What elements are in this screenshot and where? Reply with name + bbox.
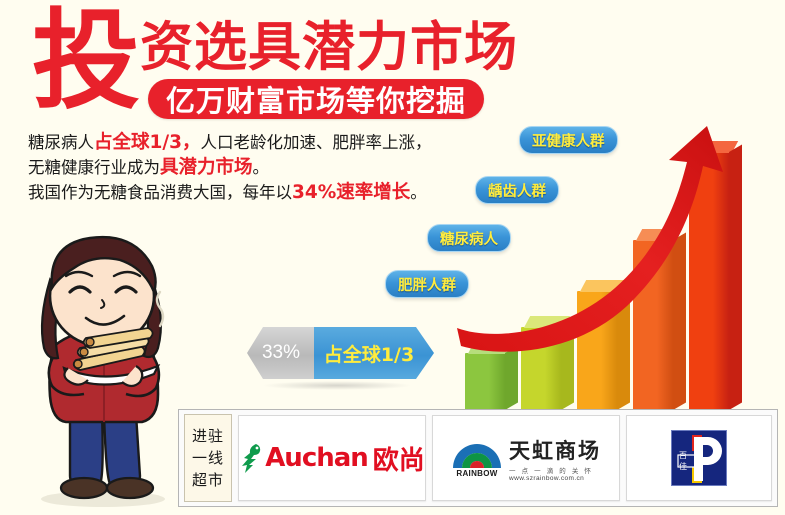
- body-copy-line-2: 无糖健康行业成为具潜力市场。: [28, 155, 498, 180]
- rainbow-logo-en: RAINBOW: [456, 469, 497, 478]
- chevron-percent-text: 33%: [262, 342, 300, 364]
- side-label-line-3: 超市: [192, 469, 224, 491]
- pill-label-3-text: 龋齿人群: [488, 180, 546, 201]
- side-label-line-1: 进驻: [192, 425, 224, 447]
- bar-3-side: [617, 283, 630, 410]
- growth-bar-chart: 肥胖人群糖尿病人龋齿人群亚健康人群: [455, 120, 785, 410]
- pill-label-1-text: 肥胖人群: [398, 274, 456, 295]
- logo-card-parknshop: 百佳: [626, 415, 772, 501]
- parknshop-logo-cn: 百佳: [679, 456, 694, 466]
- cartoon-character-illustration: [8, 218, 198, 508]
- pill-label-4-text: 亚健康人群: [532, 130, 605, 151]
- pill-label-2-text: 糖尿病人: [440, 228, 498, 249]
- rainbow-arc-icon: RAINBOW: [451, 438, 503, 478]
- bar-2-side: [561, 319, 574, 410]
- headline-banner-text: 亿万财富市场等你挖掘: [166, 78, 466, 120]
- copy-2-highlight: 具潜力市场: [160, 157, 253, 178]
- rainbow-logo-cn: 天虹商场: [509, 435, 601, 465]
- bar-3-face: [577, 291, 617, 410]
- infographic-root: 投 资选具潜力市场 亿万财富市场等你挖掘 糖尿病人占全球1/3，人口老龄化加速、…: [0, 0, 785, 515]
- logo-card-rainbow: RAINBOW 天虹商场 一 点 一 滴 的 关 怀 www.szrainbow…: [432, 415, 620, 501]
- global-share-chevron: 33% 占全球1/3: [247, 327, 434, 379]
- body-copy-line-3: 我国作为无糖食品消费大国，每年以34%速率增长。: [28, 180, 498, 205]
- auchan-logo-cn: 欧尚: [373, 440, 425, 477]
- headline-banner: 亿万财富市场等你挖掘: [148, 79, 484, 119]
- parknshop-logo: 百佳: [671, 430, 727, 486]
- pill-label-3: 龋齿人群: [475, 176, 559, 204]
- copy-1-b: 人口老龄化加速、肥胖率上涨，: [201, 133, 432, 152]
- bar-4-side: [673, 232, 686, 410]
- copy-2-a: 无糖健康行业成为: [28, 158, 160, 177]
- body-copy-line-1: 糖尿病人占全球1/3，人口老龄化加速、肥胖率上涨，: [28, 130, 498, 155]
- bar-1-face: [465, 353, 505, 410]
- rainbow-tagline: 一 点 一 滴 的 关 怀: [509, 465, 601, 475]
- panel-side-label: 进驻 一线 超市: [184, 414, 232, 502]
- copy-3-b: 。: [410, 183, 427, 202]
- chevron-percent-block: 33%: [247, 327, 315, 379]
- copy-2-b: 。: [253, 158, 270, 177]
- auchan-logo: Auchan 欧尚: [239, 440, 425, 477]
- headline-title: 资选具潜力市场: [140, 20, 518, 76]
- bar-5-face: [689, 152, 729, 410]
- bar-4-face: [633, 240, 673, 410]
- retail-partners-panel: 进驻 一线 超市 Auchan 欧尚: [178, 409, 778, 507]
- chevron-shadow: [262, 381, 412, 390]
- copy-1-a: 糖尿病人: [28, 133, 94, 152]
- chevron-label-text: 占全球1/3: [324, 340, 414, 367]
- headline-big-character: 投: [32, 10, 136, 114]
- logo-card-group: Auchan 欧尚 RAINBOW 天虹商场: [238, 415, 772, 501]
- bar-1-side: [505, 345, 518, 410]
- bar-5: [689, 152, 729, 410]
- rainbow-text-block: 天虹商场 一 点 一 滴 的 关 怀 www.szrainbow.com.cn: [509, 435, 601, 482]
- bar-2-face: [521, 327, 561, 410]
- auchan-logo-en: Auchan: [265, 443, 368, 473]
- bar-5-side: [729, 144, 742, 410]
- bar-1: [465, 353, 505, 410]
- bar-4: [633, 240, 673, 410]
- copy-3-a: 我国作为无糖食品消费大国，每年以: [28, 183, 292, 202]
- pill-label-2: 糖尿病人: [427, 224, 511, 252]
- copy-3-highlight: 34%速率增长: [292, 182, 410, 203]
- bar-3: [577, 291, 617, 410]
- body-copy: 糖尿病人占全球1/3，人口老龄化加速、肥胖率上涨， 无糖健康行业成为具潜力市场。…: [28, 130, 498, 205]
- rainbow-logo: RAINBOW 天虹商场 一 点 一 滴 的 关 怀 www.szrainbow…: [451, 435, 601, 482]
- rainbow-url: www.szrainbow.com.cn: [509, 475, 601, 482]
- pill-label-1: 肥胖人群: [385, 270, 469, 298]
- chevron-label-block: 占全球1/3: [314, 327, 434, 379]
- header: 投 资选具潜力市场 亿万财富市场等你挖掘: [0, 0, 785, 128]
- logo-card-auchan: Auchan 欧尚: [238, 415, 426, 501]
- auchan-bird-icon: [239, 441, 265, 475]
- side-label-line-2: 一线: [192, 447, 224, 469]
- pill-label-4: 亚健康人群: [519, 126, 618, 154]
- copy-1-highlight: 占全球1/3，: [94, 132, 201, 153]
- bar-2: [521, 327, 561, 410]
